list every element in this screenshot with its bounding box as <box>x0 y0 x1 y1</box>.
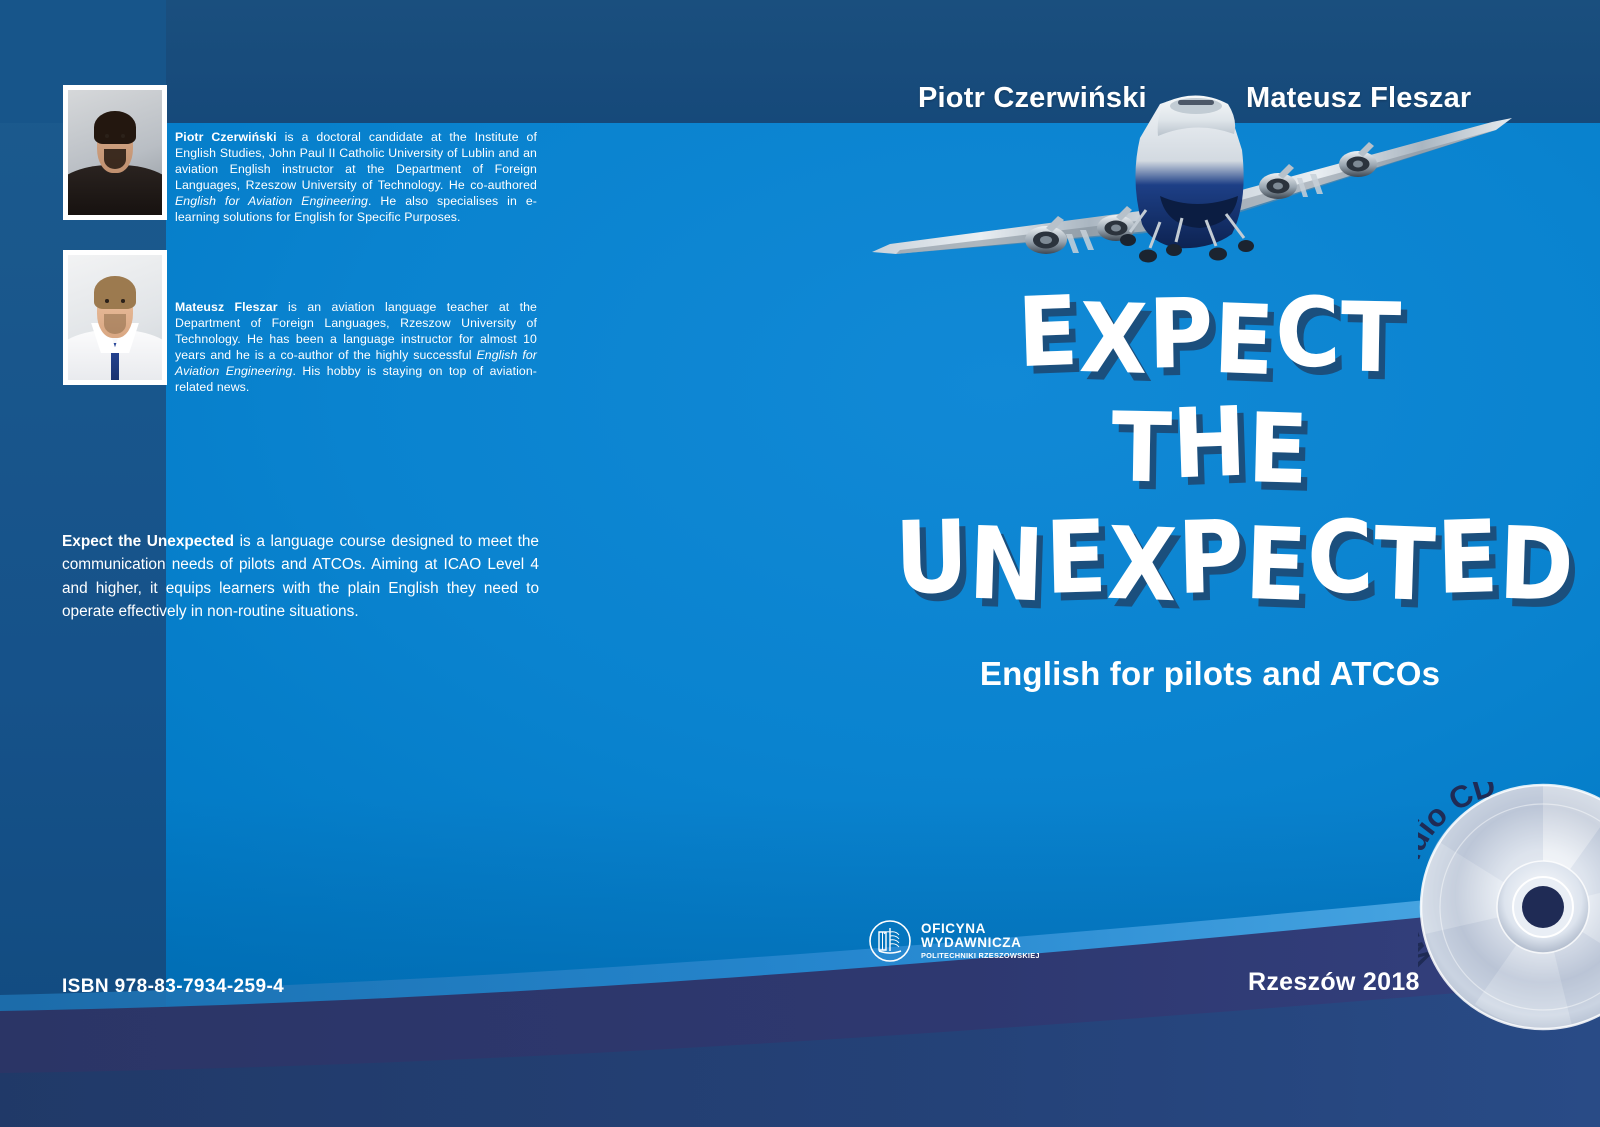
author-photo-2 <box>63 250 167 385</box>
author-photo-1 <box>63 85 167 220</box>
front-author-names: Piotr Czerwiński Mateusz Fleszar <box>0 82 1600 122</box>
front-author-1: Piotr Czerwiński <box>918 82 1147 115</box>
portrait-piotr-czerwinski <box>68 90 162 215</box>
publisher-line-3: POLITECHNIKI RZESZOWSKIEJ <box>921 952 1040 960</box>
portrait-eye-left <box>105 134 110 138</box>
title-line-1: EXPECT <box>888 292 1532 380</box>
publisher-emblem-icon <box>868 919 912 963</box>
author-bio-2-name: Mateusz Fleszar <box>175 300 278 314</box>
book-cover: Piotr Czerwiński Mateusz Fleszar EXPECT … <box>0 0 1600 1127</box>
author-bio-1: Piotr Czerwiński is a doctoral candidate… <box>175 130 537 226</box>
portrait-mateusz-fleszar <box>68 255 162 380</box>
front-author-2: Mateusz Fleszar <box>1246 82 1471 115</box>
title-line-3: UNEXPECTED <box>895 515 1525 607</box>
book-title: EXPECT THE UNEXPECTED <box>860 292 1560 607</box>
book-blurb: Expect the Unexpected is a language cour… <box>62 530 539 624</box>
portrait-eye-right <box>121 134 126 138</box>
audio-cd-badge: with Audio CD <box>1418 782 1600 1032</box>
author-bio-2: Mateusz Fleszar is an aviation language … <box>175 300 537 396</box>
bottom-wave-decoration <box>0 877 1600 1127</box>
portrait-beard <box>104 314 127 334</box>
place-and-year: Rzeszów 2018 <box>1248 968 1420 997</box>
author-bio-1-italic: English for Aviation Engineering <box>175 194 368 208</box>
portrait-suit <box>63 165 167 220</box>
publisher-line-2: WYDAWNICZA <box>921 936 1040 950</box>
blurb-lead: Expect the Unexpected <box>62 533 234 550</box>
publisher-text: OFICYNA WYDAWNICZA POLITECHNIKI RZESZOWS… <box>921 922 1040 960</box>
author-bio-1-name: Piotr Czerwiński <box>175 130 277 144</box>
portrait-eye-right <box>121 299 126 303</box>
title-line-2: THE <box>888 402 1532 490</box>
portrait-hair <box>94 276 135 309</box>
portrait-hair <box>94 111 135 144</box>
portrait-beard <box>104 149 127 169</box>
book-subtitle: English for pilots and ATCOs <box>860 655 1560 693</box>
publisher-logo: OFICYNA WYDAWNICZA POLITECHNIKI RZESZOWS… <box>868 908 1058 974</box>
publisher-line-1: OFICYNA <box>921 922 1040 936</box>
isbn: ISBN 978-83-7934-259-4 <box>62 976 284 998</box>
portrait-eye-left <box>105 299 110 303</box>
